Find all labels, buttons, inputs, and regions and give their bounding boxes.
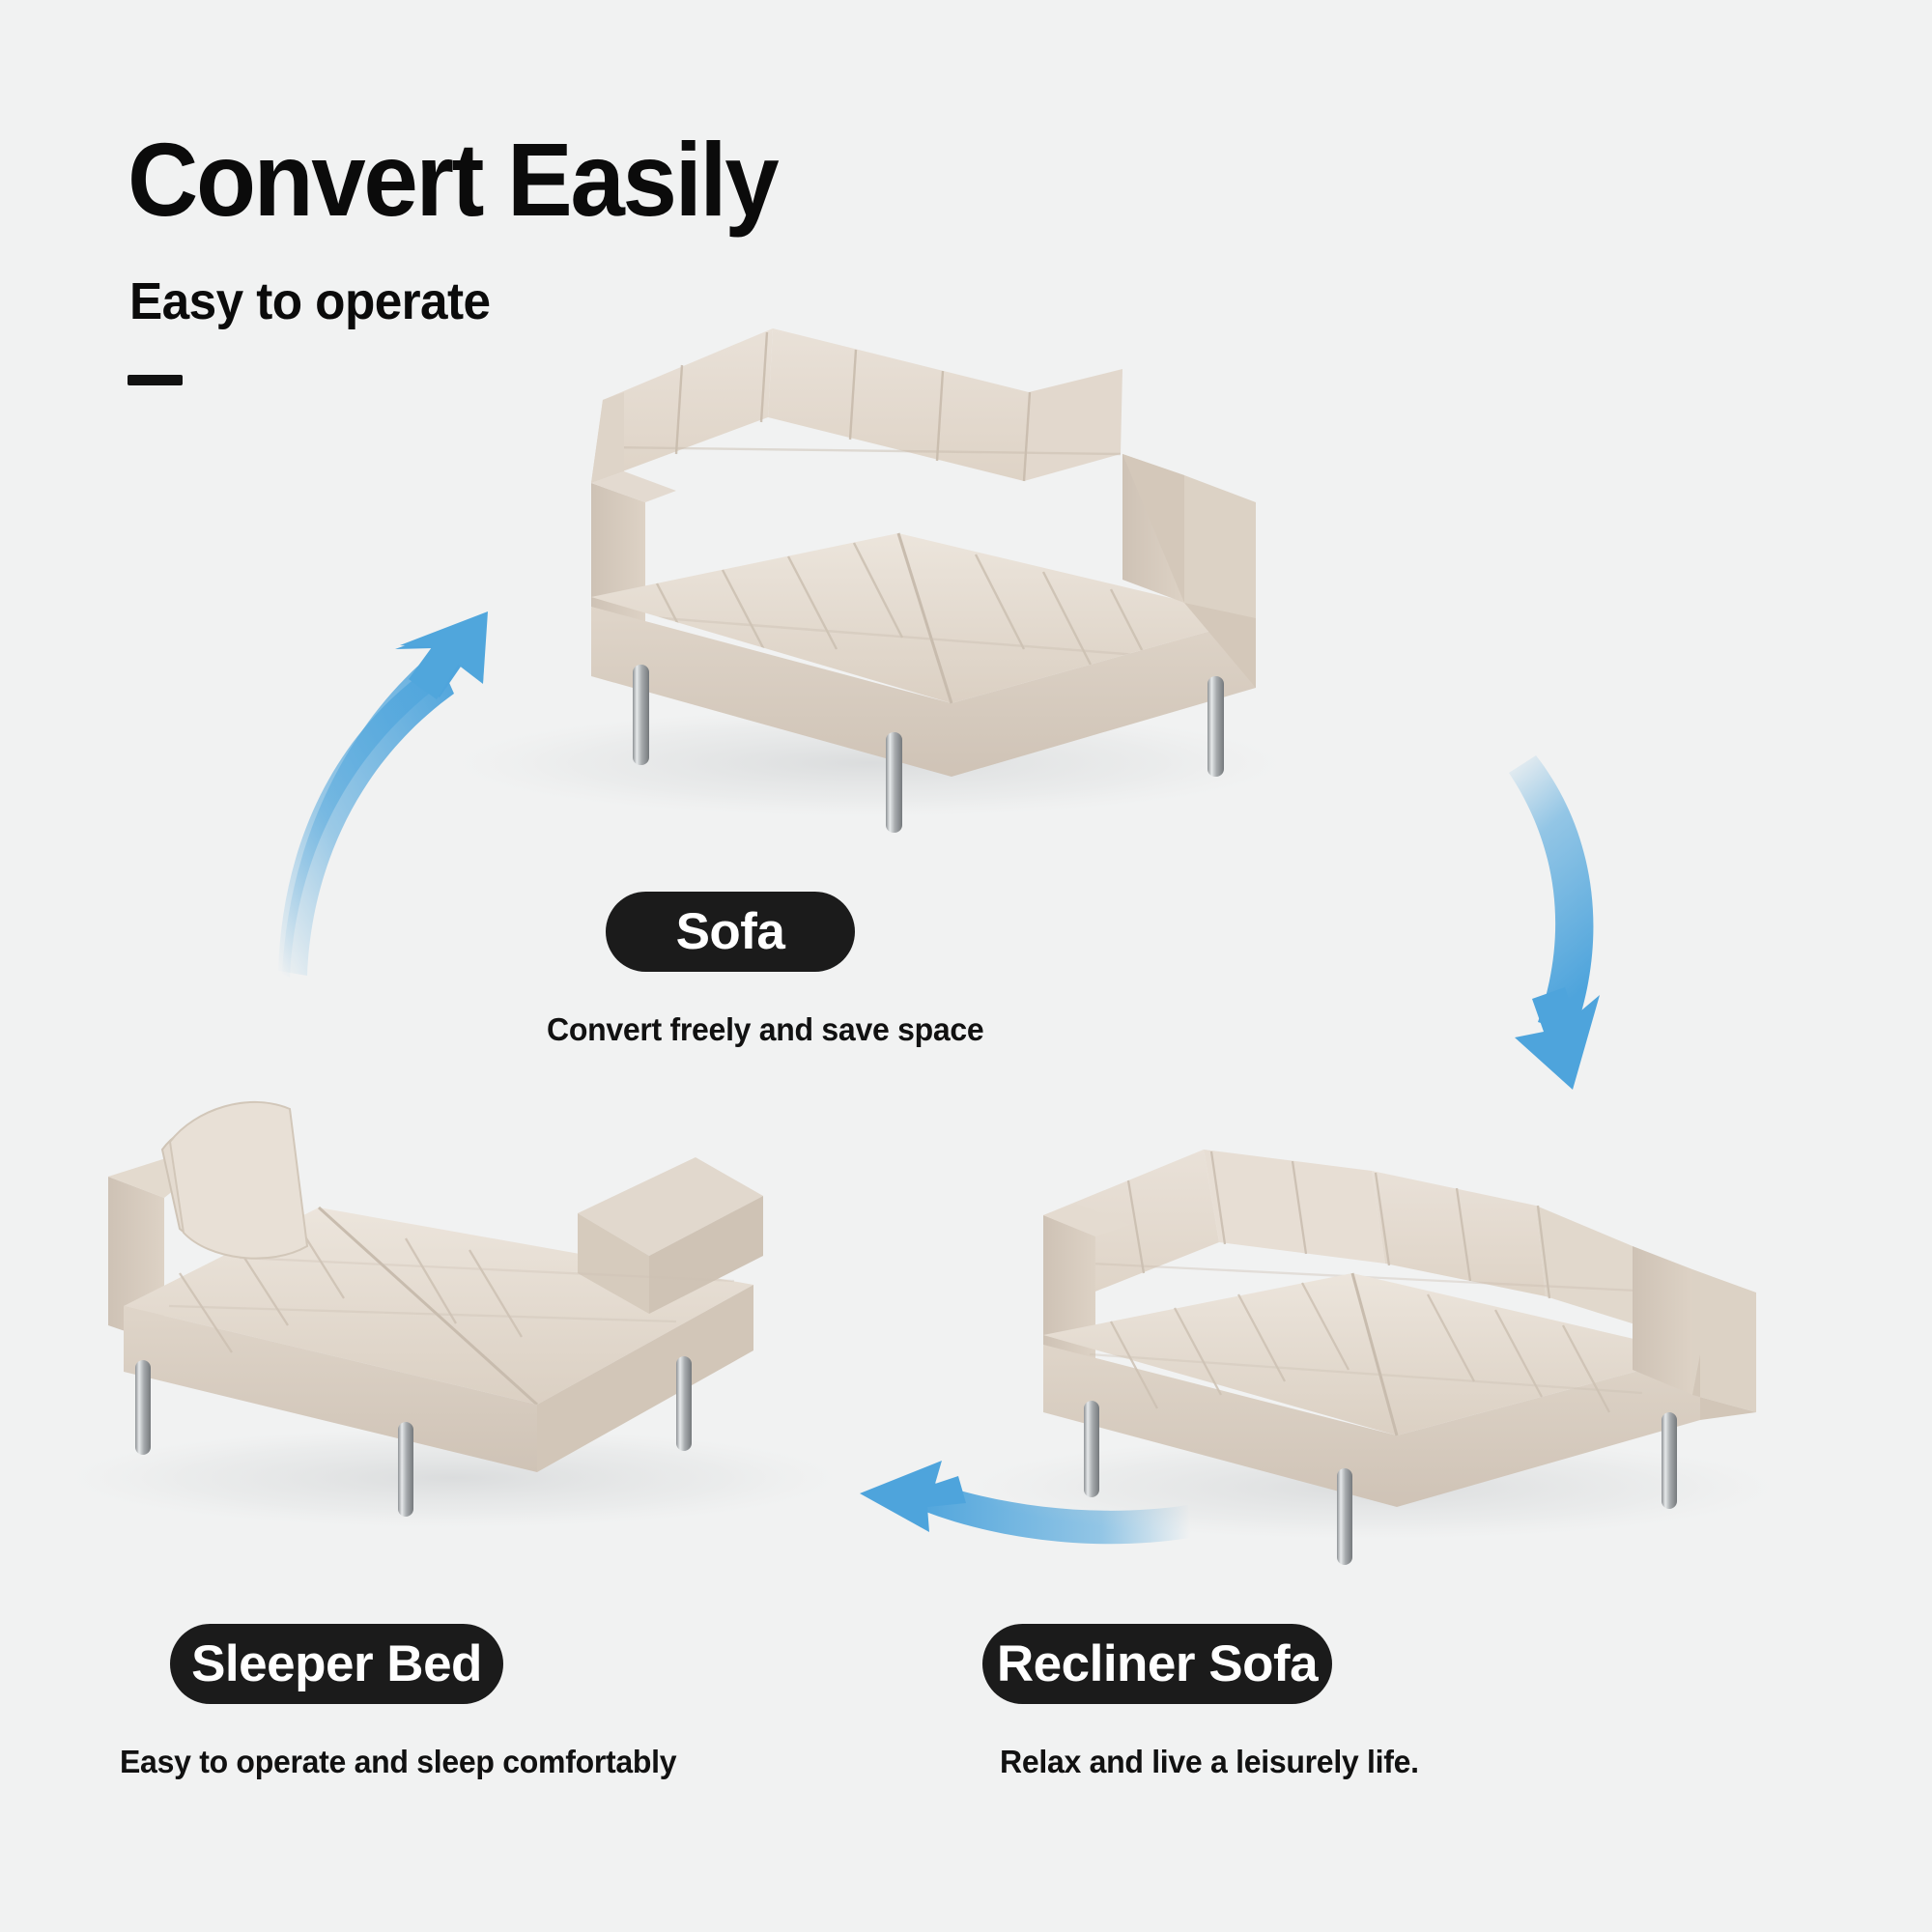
page-subtitle: Easy to operate	[129, 275, 490, 327]
product-image-recliner-sofa	[966, 1150, 1777, 1565]
infographic-canvas: Convert Easily Easy to operate Sofa Conv…	[0, 0, 1932, 1932]
badge-sleeper-bed: Sleeper Bed	[170, 1624, 503, 1704]
caption-sleeper-bed: Easy to operate and sleep comfortably	[120, 1744, 676, 1780]
caption-sofa: Convert freely and save space	[547, 1011, 983, 1048]
caption-recliner-sofa: Relax and live a leisurely life.	[1000, 1744, 1419, 1780]
title-underline-rule	[128, 375, 183, 385]
arrow-to-recliner-icon	[1509, 755, 1609, 1090]
arrow-to-sofa-icon	[278, 611, 541, 978]
product-image-sleeper-bed	[68, 1102, 869, 1528]
page-title: Convert Easily	[128, 128, 777, 232]
pillow-group	[162, 1102, 307, 1259]
badge-recliner-sofa: Recliner Sofa	[982, 1624, 1332, 1704]
badge-sofa: Sofa	[606, 892, 855, 972]
product-image-sofa	[454, 328, 1285, 833]
